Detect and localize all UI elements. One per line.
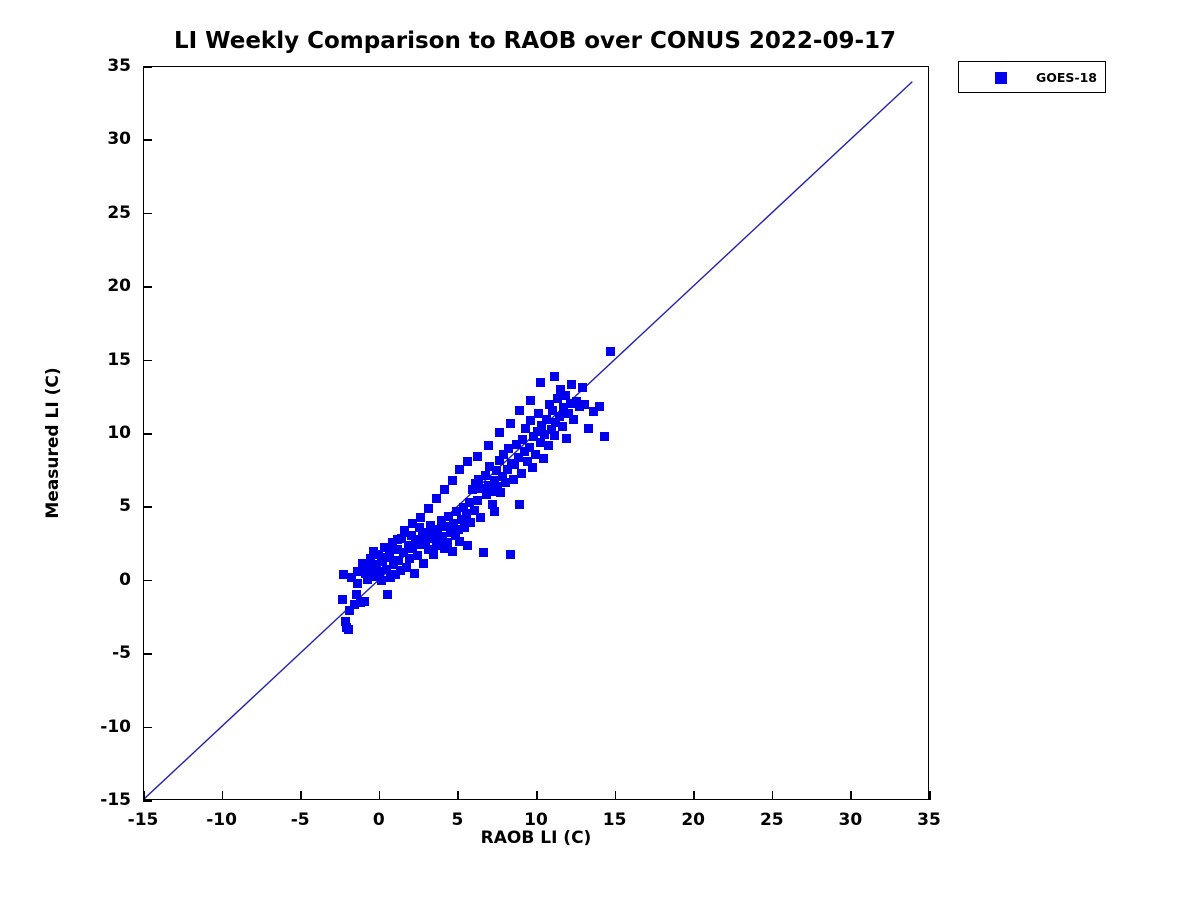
x-tick-mark: [379, 791, 381, 800]
scatter-point: [361, 569, 370, 578]
x-tick-label: -5: [260, 810, 340, 830]
x-tick-label: -15: [103, 810, 183, 830]
scatter-point: [377, 576, 386, 585]
scatter-point: [377, 553, 386, 562]
x-tick-mark: [693, 791, 695, 800]
scatter-point: [448, 476, 457, 485]
scatter-point: [490, 507, 499, 516]
y-tick-label: 25: [71, 203, 131, 223]
scatter-point: [567, 380, 576, 389]
x-tick-label: 35: [889, 810, 969, 830]
chart-canvas: LI Weekly Comparison to RAOB over CONUS …: [0, 0, 1200, 900]
y-tick-label: 15: [71, 350, 131, 370]
x-tick-mark: [536, 791, 538, 800]
x-tick-label: 15: [575, 810, 655, 830]
y-tick-mark: [143, 653, 152, 655]
x-tick-mark: [850, 791, 852, 800]
x-tick-mark: [772, 791, 774, 800]
y-tick-mark: [143, 360, 152, 362]
y-tick-mark: [143, 286, 152, 288]
scatter-point: [481, 471, 490, 480]
scatter-point: [569, 415, 578, 424]
y-tick-label: 0: [71, 570, 131, 590]
scatter-point: [558, 422, 567, 431]
scatter-point: [544, 441, 553, 450]
x-axis-label: RAOB LI (C): [143, 828, 929, 848]
scatter-point: [584, 424, 593, 433]
scatter-point: [448, 547, 457, 556]
y-tick-label: -15: [71, 790, 131, 810]
x-tick-mark: [143, 791, 145, 800]
plot-area: [143, 66, 929, 800]
scatter-point: [506, 419, 515, 428]
y-tick-label: 30: [71, 129, 131, 149]
scatter-point: [517, 469, 526, 478]
legend: GOES-18: [958, 61, 1106, 93]
y-tick-label: 35: [71, 56, 131, 76]
scatter-point: [536, 378, 545, 387]
y-tick-mark: [143, 66, 152, 68]
y-tick-mark: [143, 506, 152, 508]
y-tick-mark: [143, 433, 152, 435]
y-axis-label: Measured LI (C): [43, 353, 63, 533]
scatter-point: [555, 412, 564, 421]
scatter-point: [606, 347, 615, 356]
scatter-point: [539, 454, 548, 463]
scatter-point: [369, 560, 378, 569]
scatter-point: [353, 579, 362, 588]
x-tick-label: 0: [339, 810, 419, 830]
scatter-point: [463, 541, 472, 550]
x-tick-label: 25: [732, 810, 812, 830]
y-tick-label: 10: [71, 423, 131, 443]
scatter-point: [542, 415, 551, 424]
scatter-point: [338, 595, 347, 604]
scatter-point: [385, 544, 394, 553]
y-tick-mark: [143, 139, 152, 141]
y-tick-label: 20: [71, 276, 131, 296]
y-tick-mark: [143, 580, 152, 582]
scatter-point: [528, 463, 537, 472]
scatter-point: [455, 465, 464, 474]
scatter-point: [550, 372, 559, 381]
scatter-point: [466, 518, 475, 527]
scatter-point: [580, 400, 589, 409]
scatter-point: [410, 569, 419, 578]
legend-label: GOES-18: [959, 70, 1097, 85]
scatter-point: [515, 406, 524, 415]
x-tick-label: -10: [182, 810, 262, 830]
scatter-point: [550, 431, 559, 440]
scatter-point: [495, 428, 504, 437]
y-tick-label: -10: [71, 717, 131, 737]
x-tick-mark: [222, 791, 224, 800]
scatter-point: [506, 550, 515, 559]
plot-inner: [144, 67, 928, 799]
y-tick-mark: [143, 727, 152, 729]
scatter-point: [360, 597, 369, 606]
scatter-point: [440, 485, 449, 494]
scatter-point: [432, 494, 441, 503]
x-tick-label: 10: [496, 810, 576, 830]
scatter-point: [393, 535, 402, 544]
x-tick-mark: [300, 791, 302, 800]
scatter-point: [476, 513, 485, 522]
scatter-point: [600, 432, 609, 441]
scatter-point: [515, 500, 524, 509]
scatter-point: [496, 488, 505, 497]
scatter-point: [400, 528, 409, 537]
scatter-point: [595, 402, 604, 411]
scatter-point: [473, 452, 482, 461]
scatter-point: [479, 548, 488, 557]
y-tick-label: 5: [71, 496, 131, 516]
x-tick-label: 5: [417, 810, 497, 830]
scatter-point: [416, 513, 425, 522]
scatter-point: [424, 504, 433, 513]
y-tick-mark: [143, 800, 152, 802]
scatter-point: [383, 590, 392, 599]
x-tick-label: 30: [810, 810, 890, 830]
scatter-point: [429, 550, 438, 559]
x-tick-mark: [929, 791, 931, 800]
page-title: LI Weekly Comparison to RAOB over CONUS …: [0, 28, 1070, 54]
scatter-point: [578, 383, 587, 392]
scatter-point: [484, 441, 493, 450]
scatter-point: [344, 625, 353, 634]
y-tick-label: -5: [71, 643, 131, 663]
scatter-point: [526, 396, 535, 405]
y-tick-mark: [143, 213, 152, 215]
scatter-point: [562, 434, 571, 443]
scatter-point: [419, 559, 428, 568]
scatter-point: [463, 457, 472, 466]
x-tick-label: 20: [653, 810, 733, 830]
x-tick-mark: [615, 791, 617, 800]
x-tick-mark: [457, 791, 459, 800]
scatter-point: [408, 519, 417, 528]
scatter-point: [473, 496, 482, 505]
